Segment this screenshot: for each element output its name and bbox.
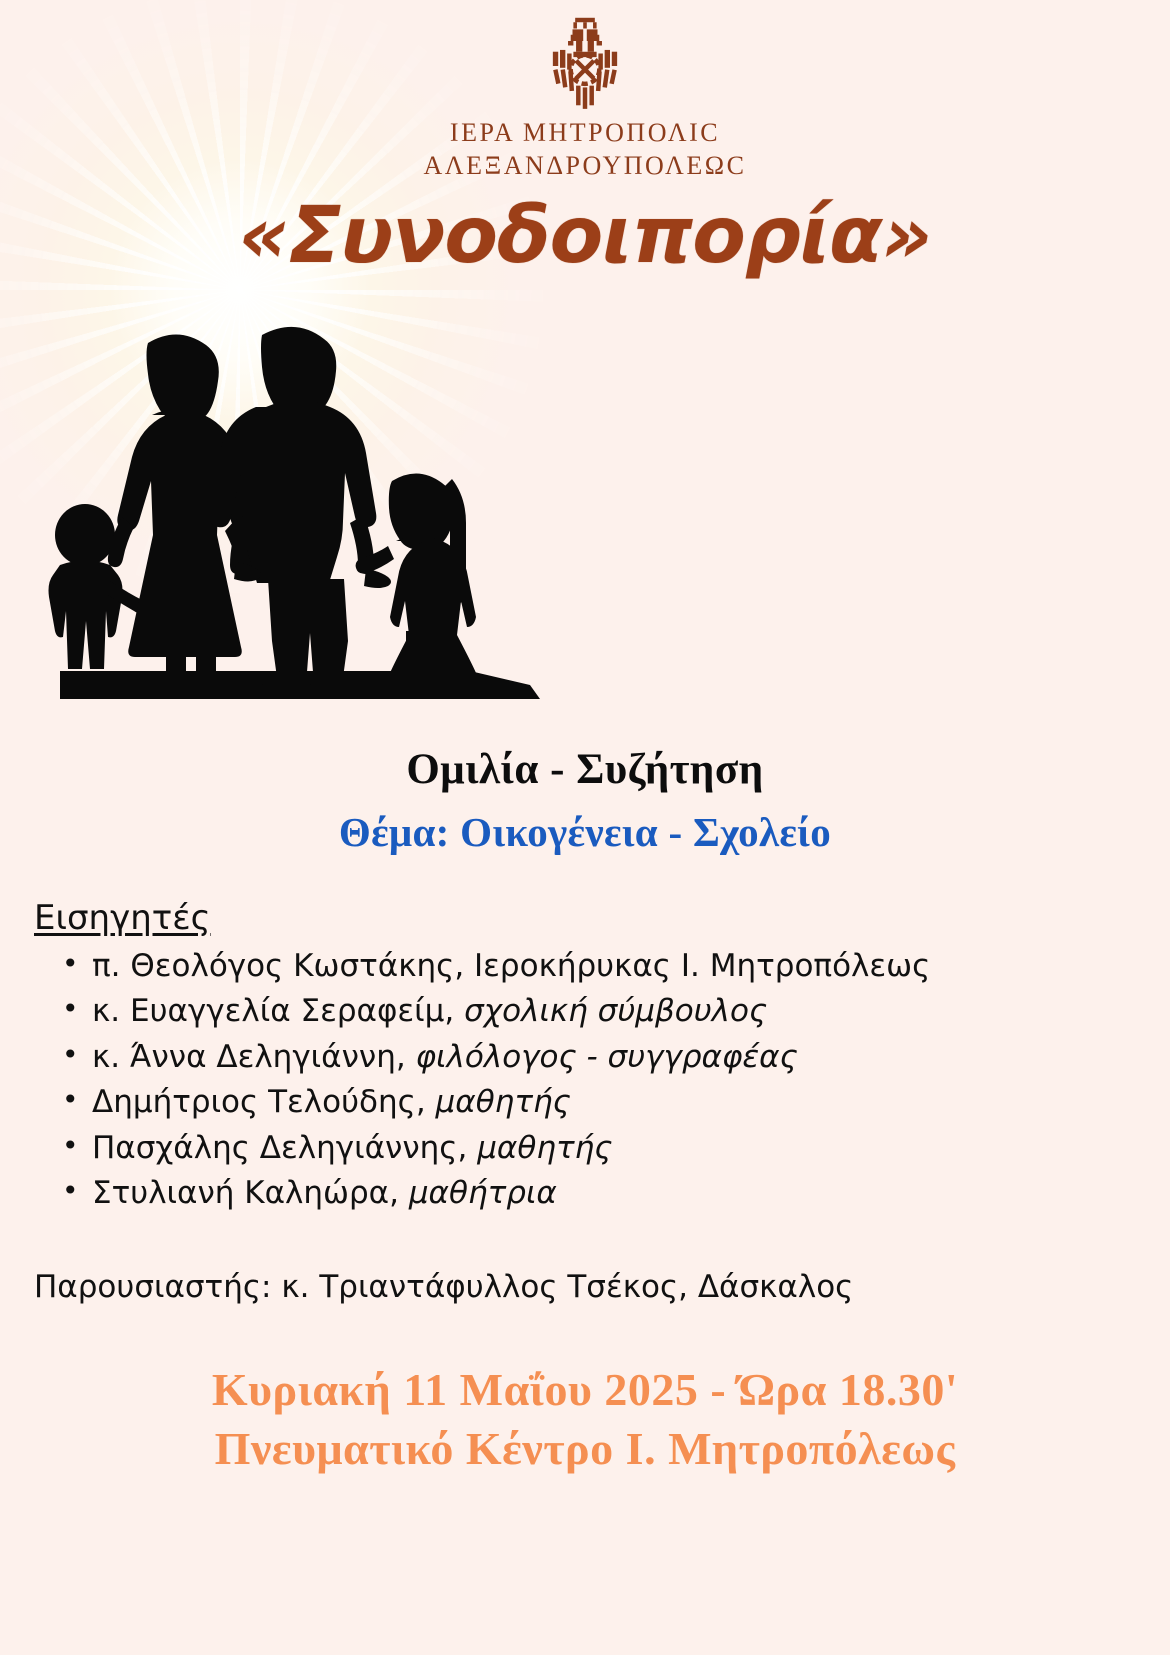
artwork-band: 5 + 4 = 9 123456789 <box>0 319 1170 709</box>
speaker-name: π. Θεολόγος Κωστάκης, <box>92 948 464 984</box>
list-item: π. Θεολόγος Κωστάκης, Ιεροκήρυκας Ι. Μητ… <box>58 944 1170 990</box>
list-item: Στυλιανή Καληώρα, μαθήτρια <box>58 1171 1170 1217</box>
speaker-name: κ. Ευαγγελία Σεραφείμ, <box>92 993 454 1029</box>
poster-footer: Κυριακή 11 Μαΐου 2025 - Ώρα 18.30' Πνευμ… <box>0 1361 1170 1479</box>
hand-link-father-girl <box>364 569 391 588</box>
speaker-list: π. Θεολόγος Κωστάκης, Ιεροκήρυκας Ι. Μητ… <box>34 944 1170 1217</box>
speaker-role: σχολική σύμβουλος <box>464 993 767 1029</box>
list-item: Δημήτριος Τελούδης, μαθητής <box>58 1080 1170 1126</box>
organization-line-1: ΙΕΡΑ ΜΗΤΡΟΠΟΛΙC <box>0 116 1170 149</box>
list-item: κ. Άννα Δεληγιάννη, φιλόλογος - συγγραφέ… <box>58 1035 1170 1081</box>
page-title: «Συνοδοιπορία» <box>0 197 1170 275</box>
speakers-label: Εισηγητές <box>34 898 1170 938</box>
speaker-name: Δημήτριος Τελούδης, <box>92 1084 426 1120</box>
family-silhouette <box>49 326 480 684</box>
talk-subject: Θέμα: Οικογένεια - Σχολείο <box>0 808 1170 856</box>
list-item: Πασχάλης Δεληγιάννης, μαθητής <box>58 1126 1170 1172</box>
speaker-name: κ. Άννα Δεληγιάννη, <box>92 1039 406 1075</box>
byzantine-double-headed-eagle-emblem <box>531 16 639 116</box>
organization-line-2: ΑΛΕΞΑΝΔΡΟΥΠΟΛΕΩC <box>0 149 1170 182</box>
presenter-line: Παρουσιαστής: κ. Τριαντάφυλλος Τσέκος, Δ… <box>34 1269 1170 1305</box>
poster-header: ΙΕΡΑ ΜΗΤΡΟΠΟΛΙC ΑΛΕΞΑΝΔΡΟΥΠΟΛΕΩC <box>0 0 1170 183</box>
speaker-role: μαθητής <box>436 1084 571 1120</box>
speaker-role: μαθήτρια <box>409 1175 557 1211</box>
speaker-name: Πασχάλης Δεληγιάννης, <box>92 1130 467 1166</box>
speakers-section: Εισηγητές π. Θεολόγος Κωστάκης, Ιεροκήρυ… <box>34 898 1170 1217</box>
event-date-time: Κυριακή 11 Μαΐου 2025 - Ώρα 18.30' <box>0 1361 1170 1420</box>
talk-heading: Ομιλία - Συζήτηση <box>0 745 1170 794</box>
event-venue: Πνευματικό Κέντρο Ι. Μητροπόλεως <box>0 1420 1170 1479</box>
list-item: κ. Ευαγγελία Σεραφείμ, σχολική σύμβουλος <box>58 989 1170 1035</box>
speaker-name: Στυλιανή Καληώρα, <box>92 1175 399 1211</box>
speaker-role: φιλόλογος - συγγραφέας <box>416 1039 798 1075</box>
speaker-role: Ιεροκήρυκας Ι. Μητροπόλεως <box>474 948 930 984</box>
event-poster: ΙΕΡΑ ΜΗΤΡΟΠΟΛΙC ΑΛΕΞΑΝΔΡΟΥΠΟΛΕΩC «Συνοδο… <box>0 0 1170 1655</box>
speaker-role: μαθητής <box>477 1130 612 1166</box>
